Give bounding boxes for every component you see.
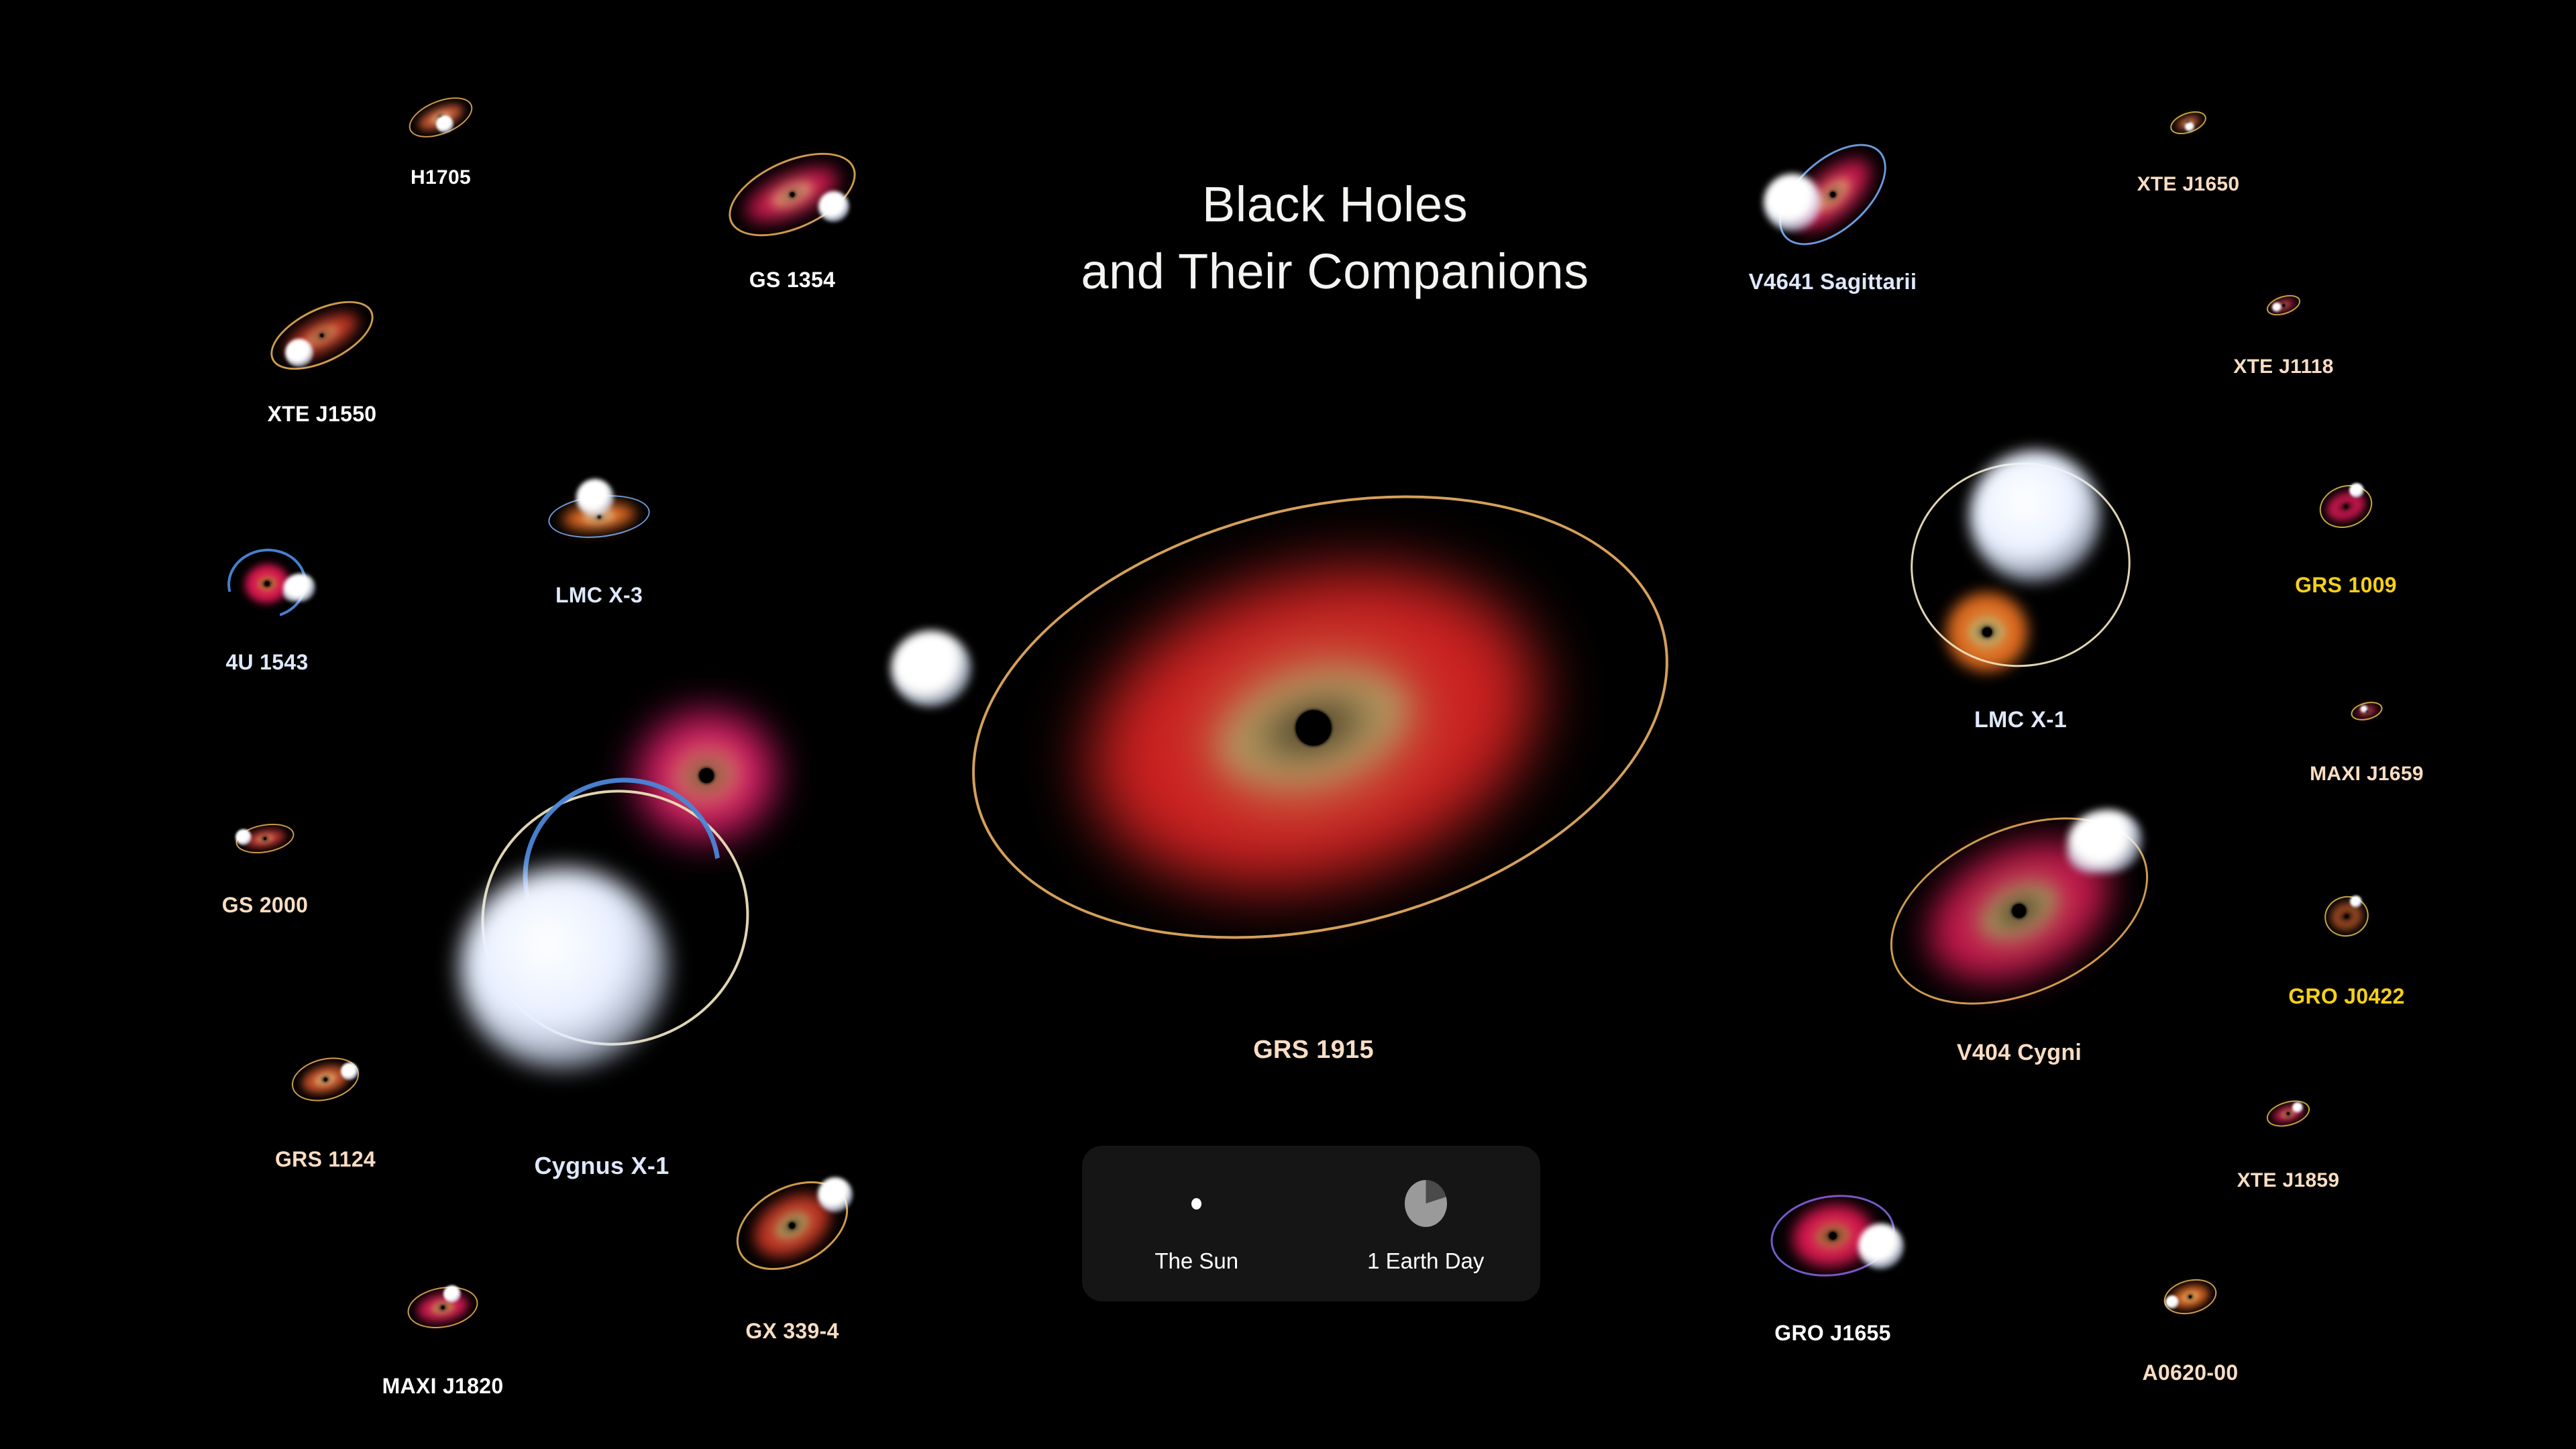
system-label-gro-j0422: GRO J0422 bbox=[2288, 984, 2404, 1009]
star-core bbox=[2165, 1295, 2179, 1309]
system-label-maxi-j1820: MAXI J1820 bbox=[382, 1374, 504, 1399]
orbit-path bbox=[260, 287, 384, 384]
legend-item-the-sun: The Sun bbox=[1120, 1173, 1274, 1274]
companion-star bbox=[1764, 174, 1821, 231]
system-label-maxi-j1659: MAXI J1659 bbox=[2310, 763, 2424, 786]
companion-star bbox=[460, 868, 668, 1069]
companion-star bbox=[2068, 810, 2143, 873]
system-artwork bbox=[264, 838, 266, 839]
system-xte-j1118[interactable]: XTE J1118 bbox=[2283, 305, 2284, 306]
system-xte-j1550[interactable]: XTE J1550 bbox=[321, 335, 323, 336]
legend-label-one-earth-day: 1 Earth Day bbox=[1367, 1248, 1484, 1274]
star-core bbox=[2349, 483, 2364, 498]
star-core bbox=[460, 868, 668, 1069]
system-artwork bbox=[266, 583, 268, 584]
system-artwork bbox=[598, 516, 600, 517]
system-artwork bbox=[2188, 122, 2189, 123]
system-artwork bbox=[2283, 305, 2284, 306]
star-core bbox=[2185, 122, 2194, 131]
system-v404-cygni[interactable]: V404 Cygni bbox=[2019, 910, 2020, 912]
system-artwork bbox=[2345, 506, 2347, 507]
star-core bbox=[235, 829, 252, 845]
sun-icon bbox=[1191, 1173, 1201, 1234]
companion-star bbox=[2349, 483, 2364, 498]
system-artwork bbox=[1832, 1235, 1833, 1236]
system-artwork bbox=[321, 335, 323, 336]
star-core bbox=[576, 479, 614, 517]
star-core bbox=[283, 574, 315, 602]
legend-item-one-earth-day: 1 Earth Day bbox=[1348, 1173, 1503, 1274]
system-gx-339-4[interactable]: GX 339-4 bbox=[792, 1225, 793, 1226]
system-label-lmc-x-3: LMC X-3 bbox=[555, 583, 643, 608]
system-label-xte-j1118: XTE J1118 bbox=[2233, 356, 2334, 378]
system-label-grs-1124: GRS 1124 bbox=[275, 1147, 376, 1172]
companion-star bbox=[2165, 1295, 2179, 1309]
system-grs-1124[interactable]: GRS 1124 bbox=[325, 1079, 326, 1080]
system-label-gx-339-4: GX 339-4 bbox=[745, 1319, 839, 1344]
system-label-a0620-00: A0620-00 bbox=[2143, 1360, 2239, 1385]
companion-star bbox=[1970, 451, 2101, 582]
star-core bbox=[2350, 896, 2362, 908]
companion-star bbox=[2361, 706, 2368, 713]
system-artwork bbox=[2366, 710, 2367, 712]
starfield-canvas: Black Holes and Their Companions H1705GS… bbox=[0, 0, 2576, 1449]
star-core bbox=[341, 1063, 358, 1080]
system-lmc-x-1[interactable]: LMC X-1 bbox=[2020, 544, 2021, 545]
system-4u-1543[interactable]: 4U 1543 bbox=[266, 583, 268, 584]
companion-star bbox=[2185, 122, 2194, 131]
companion-star bbox=[283, 574, 315, 602]
system-grs-1915[interactable]: GRS 1915 bbox=[1313, 727, 1314, 729]
orbit-path bbox=[405, 1281, 482, 1333]
system-gro-j0422[interactable]: GRO J0422 bbox=[2346, 916, 2347, 917]
companion-star bbox=[2350, 896, 2362, 908]
scale-legend-panel: The Sun 1 Earth Day bbox=[1082, 1146, 1540, 1301]
system-artwork bbox=[1313, 727, 1314, 729]
page-title: Black Holes and Their Companions bbox=[1033, 171, 1637, 305]
system-label-xte-j1859: XTE J1859 bbox=[2237, 1169, 2340, 1192]
companion-star bbox=[2272, 303, 2282, 312]
system-artwork bbox=[442, 1307, 443, 1308]
system-gs-1354[interactable]: GS 1354 bbox=[792, 194, 793, 195]
system-label-v4641-sagittarii: V4641 Sagittarii bbox=[1749, 269, 1917, 294]
star-core bbox=[1858, 1224, 1904, 1269]
star-core bbox=[2361, 706, 2368, 713]
system-label-grs-1915: GRS 1915 bbox=[1253, 1036, 1374, 1065]
system-label-gs-2000: GS 2000 bbox=[222, 893, 308, 918]
star-core bbox=[2068, 810, 2143, 873]
orbit-path bbox=[2320, 892, 2373, 941]
system-grs-1009[interactable]: GRS 1009 bbox=[2345, 506, 2347, 507]
system-artwork bbox=[440, 117, 441, 118]
star-core bbox=[285, 339, 313, 367]
system-label-4u-1543: 4U 1543 bbox=[225, 650, 308, 675]
star-core bbox=[436, 115, 453, 133]
system-artwork bbox=[792, 194, 793, 195]
system-artwork bbox=[2190, 1296, 2191, 1297]
orbit-path bbox=[925, 427, 1716, 1007]
system-artwork bbox=[601, 924, 602, 925]
system-a0620-00[interactable]: A0620-00 bbox=[2190, 1296, 2191, 1297]
system-cygnus-x-1[interactable]: Cygnus X-1 bbox=[601, 924, 602, 925]
star-core bbox=[2292, 1102, 2303, 1113]
companion-star bbox=[341, 1063, 358, 1080]
system-artwork bbox=[2019, 910, 2020, 912]
system-artwork bbox=[1832, 194, 1833, 195]
companion-star bbox=[818, 1177, 853, 1212]
system-lmc-x-3[interactable]: LMC X-3 bbox=[598, 516, 600, 517]
system-maxi-j1659[interactable]: MAXI J1659 bbox=[2366, 710, 2367, 712]
companion-star bbox=[443, 1285, 461, 1303]
system-label-gro-j1655: GRO J1655 bbox=[1774, 1321, 1890, 1346]
system-v4641-sagittarii[interactable]: V4641 Sagittarii bbox=[1832, 194, 1833, 195]
companion-star bbox=[235, 829, 252, 845]
system-label-cygnus-x-1: Cygnus X-1 bbox=[534, 1152, 669, 1180]
system-gro-j1655[interactable]: GRO J1655 bbox=[1832, 1235, 1833, 1236]
companion-star bbox=[891, 631, 971, 707]
system-xte-j1650[interactable]: XTE J1650 bbox=[2188, 122, 2189, 123]
system-label-grs-1009: GRS 1009 bbox=[2295, 573, 2397, 598]
companion-star bbox=[285, 339, 313, 367]
star-core bbox=[2272, 303, 2282, 312]
system-gs-2000[interactable]: GS 2000 bbox=[264, 838, 266, 839]
companion-star bbox=[2292, 1102, 2303, 1113]
system-h1705[interactable]: H1705 bbox=[440, 117, 441, 118]
system-artwork bbox=[325, 1079, 326, 1080]
clock-pie-icon bbox=[1405, 1173, 1447, 1234]
system-label-xte-j1550: XTE J1550 bbox=[268, 402, 377, 427]
legend-label-the-sun: The Sun bbox=[1155, 1248, 1238, 1274]
star-core bbox=[891, 631, 971, 707]
system-label-h1705: H1705 bbox=[411, 166, 471, 189]
star-core bbox=[443, 1285, 461, 1303]
star-core bbox=[1764, 174, 1821, 231]
companion-star bbox=[1858, 1224, 1904, 1269]
system-label-v404-cygni: V404 Cygni bbox=[1957, 1040, 2082, 1066]
system-maxi-j1820[interactable]: MAXI J1820 bbox=[442, 1307, 443, 1308]
star-core bbox=[1970, 451, 2101, 582]
orbit-path bbox=[2263, 1096, 2312, 1132]
system-artwork bbox=[2288, 1113, 2289, 1114]
companion-star bbox=[818, 191, 849, 222]
system-xte-j1859[interactable]: XTE J1859 bbox=[2288, 1113, 2289, 1114]
orbit-path bbox=[2314, 478, 2377, 535]
orbit-path bbox=[716, 136, 868, 253]
system-label-gs-1354: GS 1354 bbox=[749, 268, 835, 292]
companion-star bbox=[576, 479, 614, 517]
system-label-xte-j1650: XTE J1650 bbox=[2137, 173, 2240, 196]
star-core bbox=[818, 191, 849, 222]
companion-star bbox=[436, 115, 453, 133]
system-artwork bbox=[792, 1225, 793, 1226]
orbit-path bbox=[2264, 291, 2303, 319]
system-artwork bbox=[2346, 916, 2347, 917]
star-core bbox=[818, 1177, 853, 1212]
system-label-lmc-x-1: LMC X-1 bbox=[1974, 707, 2067, 733]
system-artwork bbox=[2020, 544, 2021, 545]
